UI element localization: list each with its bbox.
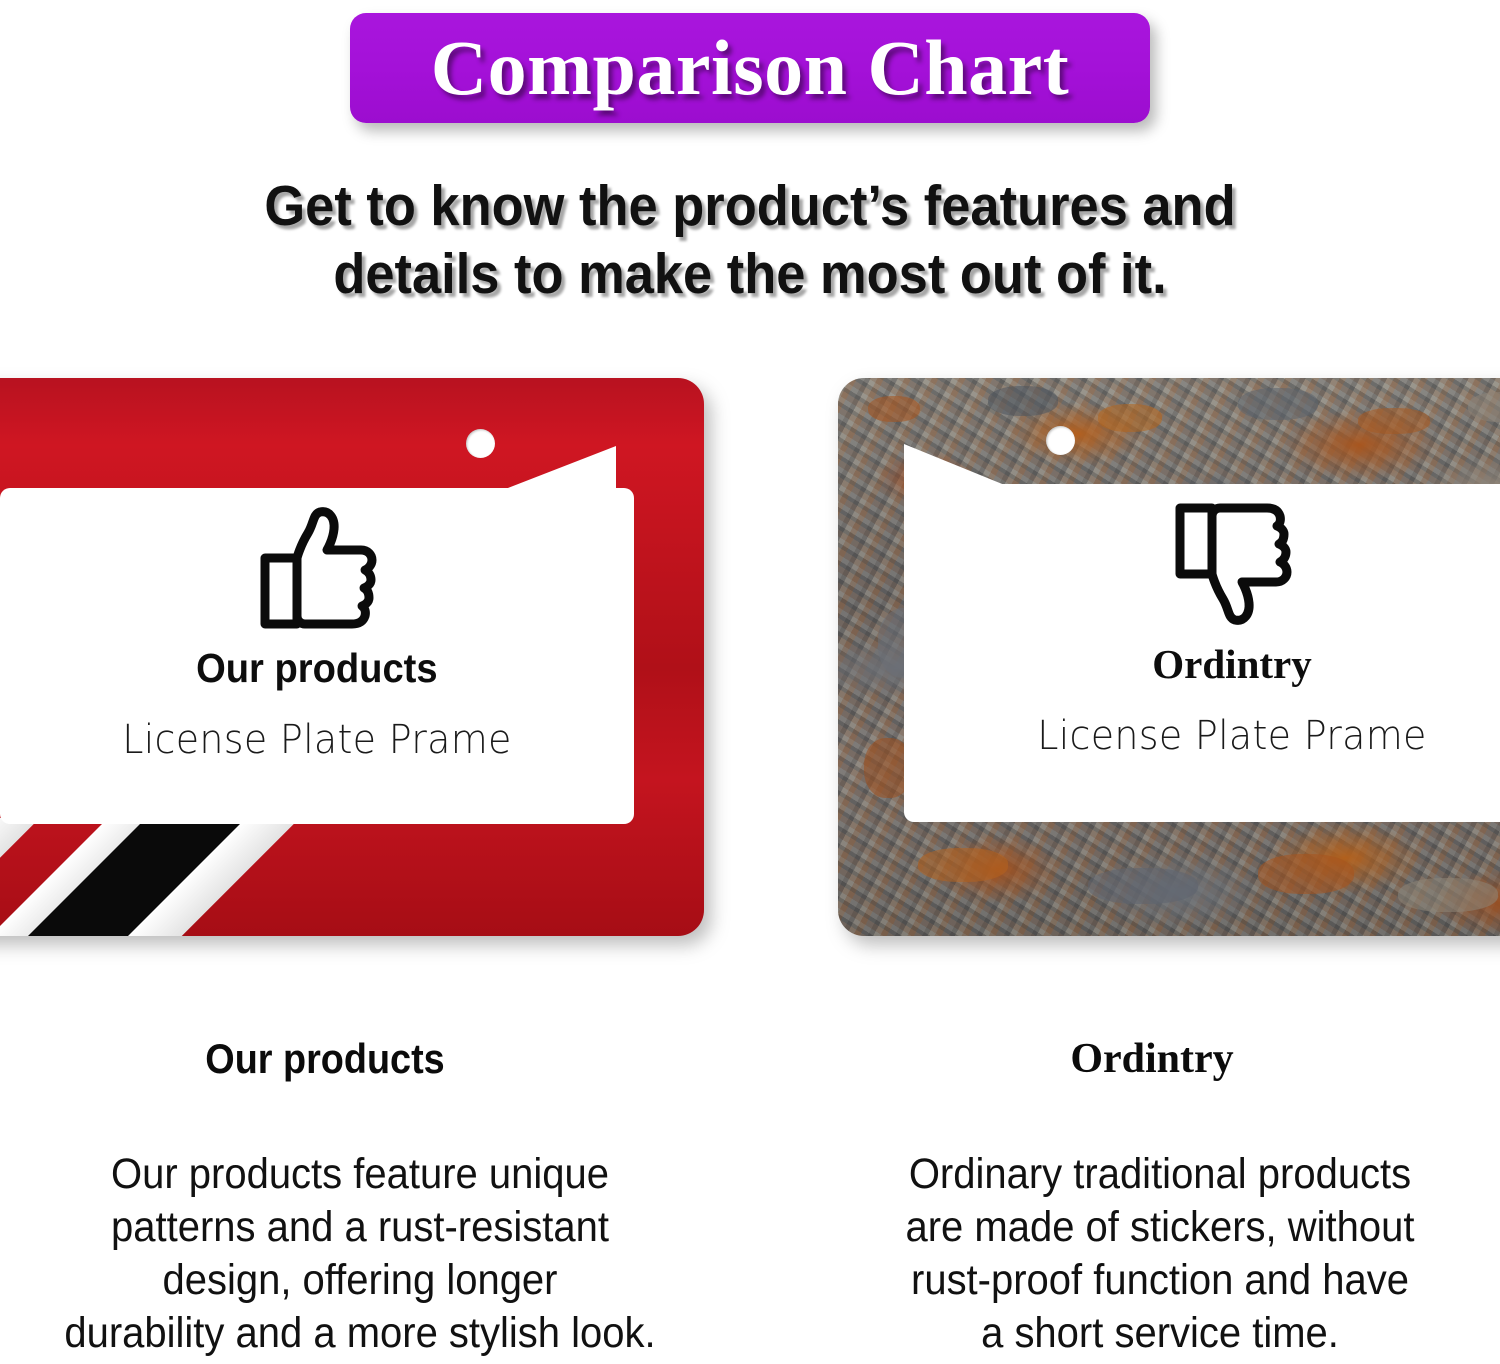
body-line: durability and a more stylish look.	[35, 1307, 686, 1360]
rust-speck	[1398, 878, 1498, 912]
body-line: rust-proof function and have	[853, 1254, 1467, 1307]
plate-notch-left	[436, 446, 616, 516]
subtitle-text: Get to know the product’s features and d…	[60, 172, 1440, 308]
stripe-group-top	[0, 378, 278, 490]
rust-speck	[1088, 868, 1198, 904]
column-heading-right: Ordintry	[852, 1034, 1452, 1084]
plate-notch-right	[904, 444, 1076, 514]
subtitle-line-1: Get to know the product’s features and	[60, 172, 1440, 240]
body-line: Our products feature unique	[35, 1148, 686, 1201]
header-banner: Comparison Chart	[350, 13, 1150, 123]
frame-label-right: Ordintry	[1152, 641, 1311, 687]
product-frame-ordinary: Ordintry License Plate Prame	[838, 378, 1500, 936]
body-line: a short service time.	[853, 1307, 1467, 1360]
rust-speck	[1238, 388, 1318, 420]
column-body-right: Ordinary traditional products are made o…	[853, 1148, 1467, 1360]
thumbs-down-icon	[1168, 498, 1296, 635]
frame-subtitle-right: License Plate Prame	[1037, 713, 1426, 759]
rust-speck	[1258, 854, 1354, 894]
stripe-group-bottom	[0, 818, 704, 936]
column-heading-left: Our products	[55, 1034, 595, 1084]
rust-speck	[988, 386, 1058, 416]
mounting-hole-left	[466, 429, 495, 458]
rust-speck	[1468, 392, 1500, 422]
body-line: design, offering longer	[35, 1254, 686, 1307]
window-content-left: Our products License Plate Prame	[0, 488, 634, 824]
body-line: patterns and a rust-resistant	[35, 1201, 686, 1254]
rust-speck	[1098, 404, 1162, 432]
product-frame-ours: Our products License Plate Prame	[0, 378, 704, 936]
frame-label-left: Our products	[196, 645, 438, 691]
plate-window-right: Ordintry License Plate Prame	[904, 484, 1500, 822]
column-body-left: Our products feature unique patterns and…	[35, 1148, 686, 1360]
frame-subtitle-left: License Plate Prame	[122, 717, 511, 763]
plate-window-left: Our products License Plate Prame	[0, 488, 634, 824]
rusted-metal-plate: Ordintry License Plate Prame	[838, 378, 1500, 936]
red-striped-plate: Our products License Plate Prame	[0, 378, 704, 936]
page-title: Comparison Chart	[431, 29, 1070, 107]
mounting-hole-right	[1046, 426, 1075, 455]
subtitle-line-2: details to make the most out of it.	[60, 240, 1440, 308]
rust-speck	[868, 396, 920, 422]
window-content-right: Ordintry License Plate Prame	[904, 484, 1500, 822]
body-line: Ordinary traditional products	[853, 1148, 1467, 1201]
body-line: are made of stickers, without	[853, 1201, 1467, 1254]
rust-speck	[918, 848, 1008, 882]
thumbs-up-icon	[253, 502, 381, 639]
rust-speck	[1358, 408, 1430, 434]
